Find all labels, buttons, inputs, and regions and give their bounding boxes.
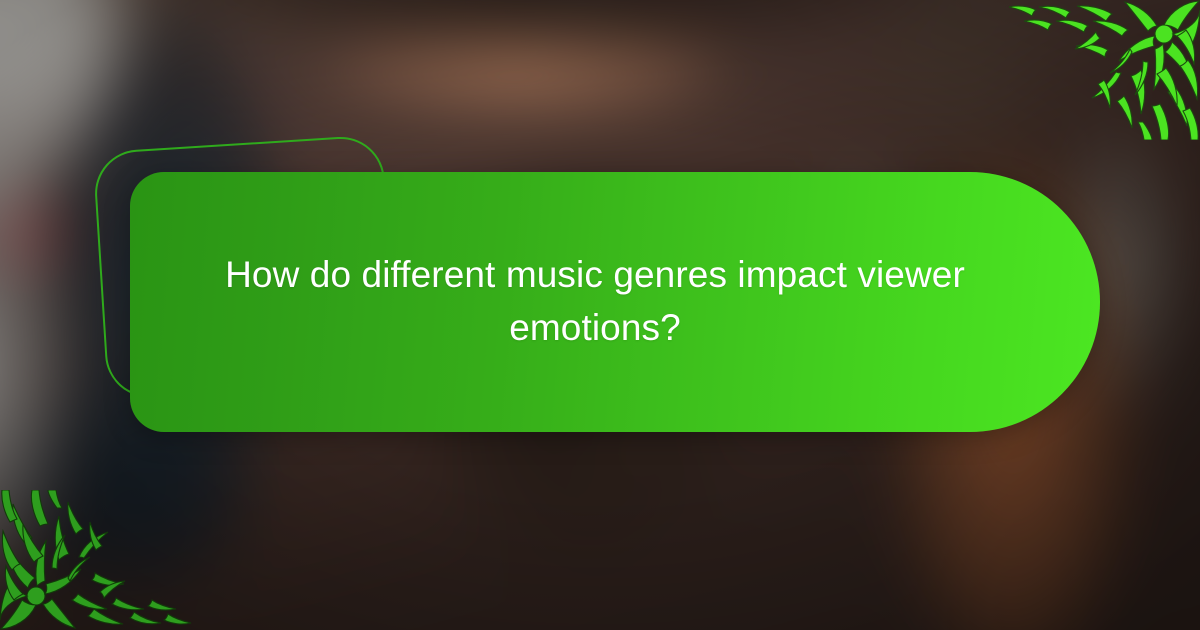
quote-card-banner: How do different music genres impact vie…: [0, 0, 1200, 630]
question-card: How do different music genres impact vie…: [130, 172, 1100, 432]
floral-corner-ornament-bottom-left: [0, 490, 200, 630]
question-text: How do different music genres impact vie…: [218, 249, 972, 354]
floral-corner-ornament-top-right: [1000, 0, 1200, 140]
